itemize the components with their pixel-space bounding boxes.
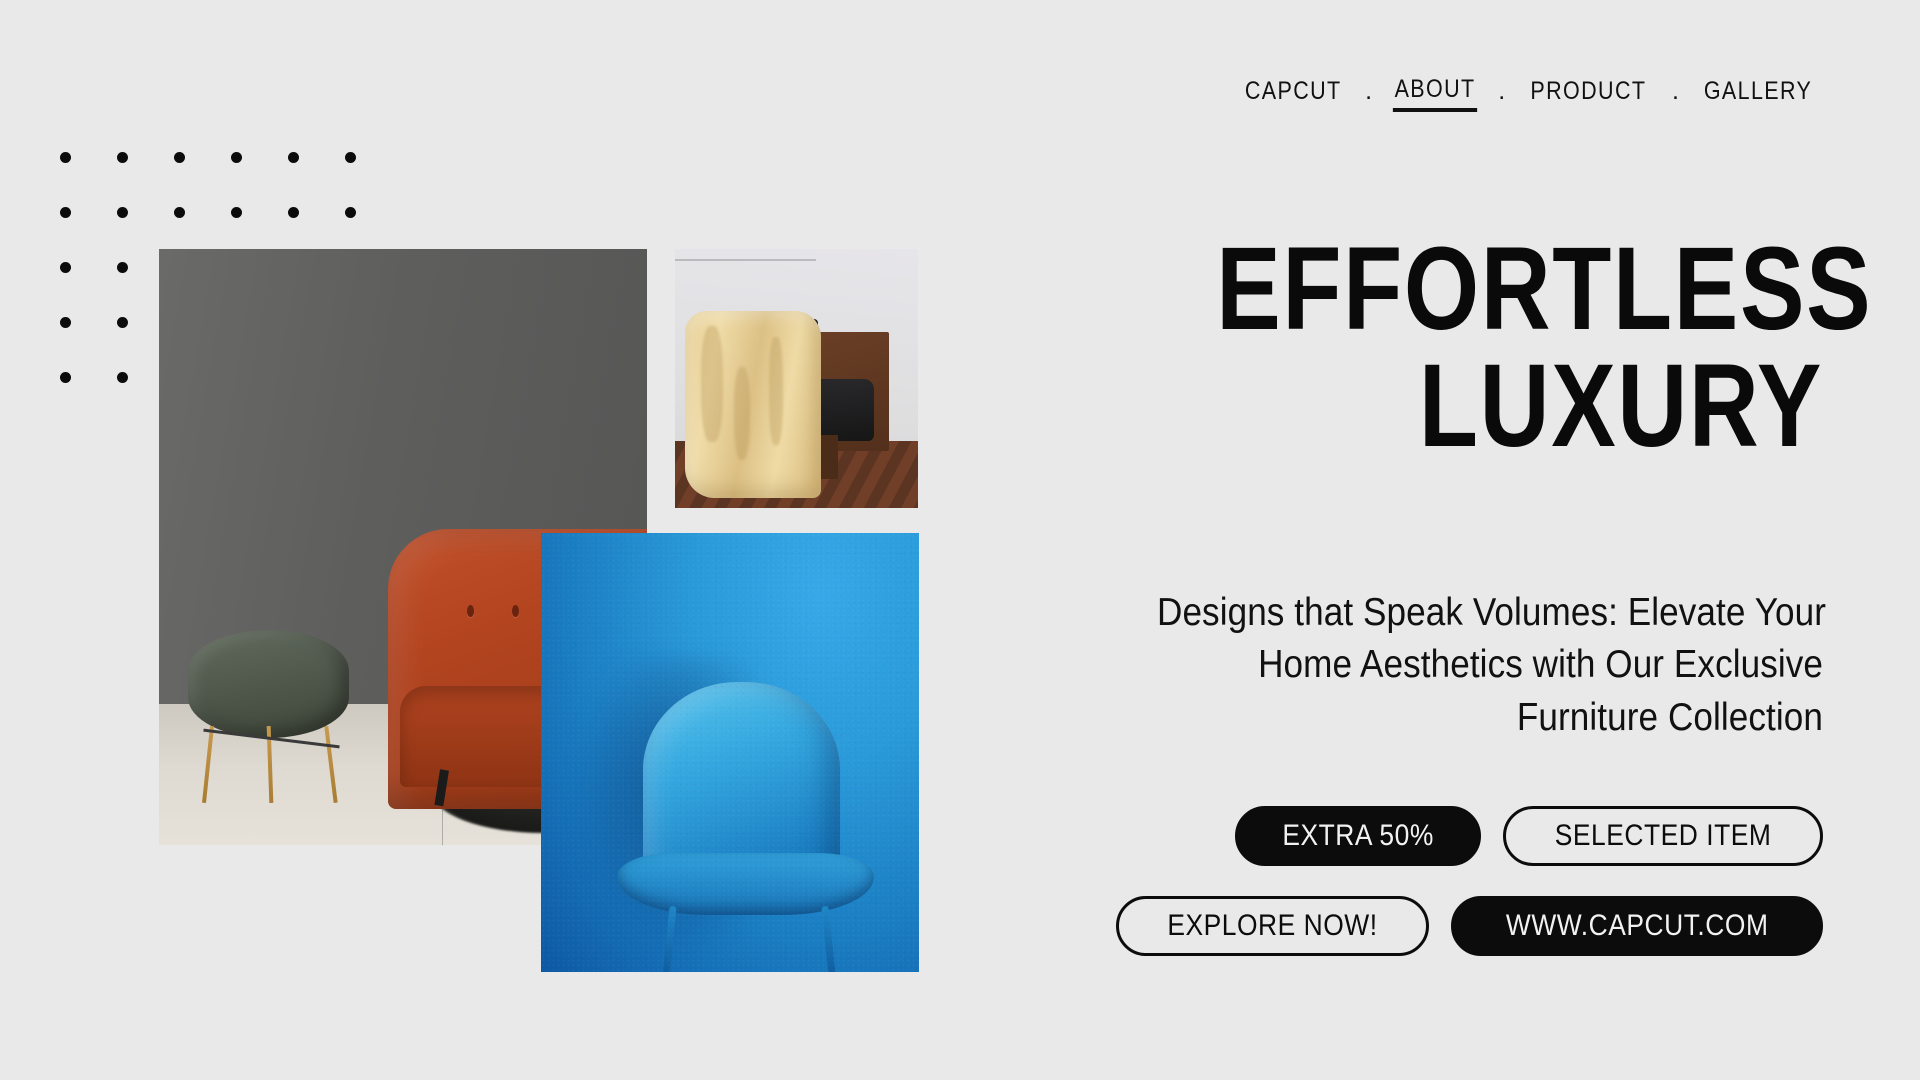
explore-now-button[interactable]: EXPLORE NOW! bbox=[1116, 896, 1429, 956]
ottoman-leg bbox=[202, 726, 214, 803]
blue-velvet-chair-seat bbox=[617, 853, 874, 914]
extra-discount-button[interactable]: EXTRA 50% bbox=[1235, 806, 1481, 866]
website-url-label: WWW.CAPCUT.COM bbox=[1506, 911, 1769, 941]
tagline-line-1: Designs that Speak Volumes: Elevate Your bbox=[1157, 587, 1823, 639]
nav-separator-dot: . bbox=[1351, 79, 1386, 110]
nav-item-about[interactable]: ABOUT bbox=[1393, 77, 1477, 112]
page-title: EFFORTLESS LUXURY bbox=[1083, 231, 1823, 465]
explore-now-label: EXPLORE NOW! bbox=[1167, 911, 1377, 941]
cta-row-primary: EXTRA 50% SELECTED ITEM bbox=[1235, 806, 1823, 866]
yellow-throw-photo bbox=[675, 249, 918, 508]
ottoman-leg bbox=[324, 726, 337, 803]
selected-item-label: SELECTED ITEM bbox=[1555, 821, 1772, 851]
selected-item-button[interactable]: SELECTED ITEM bbox=[1503, 806, 1823, 866]
sofa-tufting-button bbox=[467, 605, 474, 617]
fabric-fold bbox=[769, 337, 783, 445]
tagline-paragraph: Designs that Speak Volumes: Elevate Your… bbox=[1157, 587, 1823, 744]
fabric-fold bbox=[701, 326, 723, 442]
sofa-tufting-button bbox=[512, 605, 519, 617]
yellow-satin-throw bbox=[685, 311, 821, 497]
blue-chair-photo bbox=[541, 533, 919, 972]
headline-line-1: EFFORTLESS bbox=[1216, 231, 1823, 348]
extra-discount-label: EXTRA 50% bbox=[1282, 821, 1433, 851]
nav-item-capcut[interactable]: CAPCUT bbox=[1243, 79, 1343, 110]
nav-separator-dot: . bbox=[1484, 79, 1519, 110]
wall-trim-line bbox=[675, 259, 816, 261]
cta-row-secondary: EXPLORE NOW! WWW.CAPCUT.COM bbox=[1116, 896, 1823, 956]
nav-separator-dot: . bbox=[1658, 79, 1693, 110]
nav-item-gallery[interactable]: GALLERY bbox=[1702, 79, 1814, 110]
green-velvet-ottoman bbox=[188, 630, 349, 737]
bench-leg bbox=[821, 435, 838, 479]
tagline-line-3: Furniture Collection bbox=[1157, 692, 1823, 744]
fabric-fold bbox=[734, 367, 750, 460]
tagline-line-2: Home Aesthetics with Our Exclusive bbox=[1157, 639, 1823, 691]
ottoman-leg-frame bbox=[203, 726, 340, 803]
image-collage bbox=[0, 0, 960, 1080]
content-column: CAPCUT.ABOUT.PRODUCT.GALLERY EFFORTLESS … bbox=[1083, 0, 1823, 1080]
main-navigation: CAPCUT.ABOUT.PRODUCT.GALLERY bbox=[1235, 77, 1823, 112]
nav-item-product[interactable]: PRODUCT bbox=[1529, 79, 1648, 110]
headline-line-2: LUXURY bbox=[1216, 348, 1823, 465]
website-url-button[interactable]: WWW.CAPCUT.COM bbox=[1451, 896, 1823, 956]
poster-canvas: CAPCUT.ABOUT.PRODUCT.GALLERY EFFORTLESS … bbox=[0, 0, 1920, 1080]
